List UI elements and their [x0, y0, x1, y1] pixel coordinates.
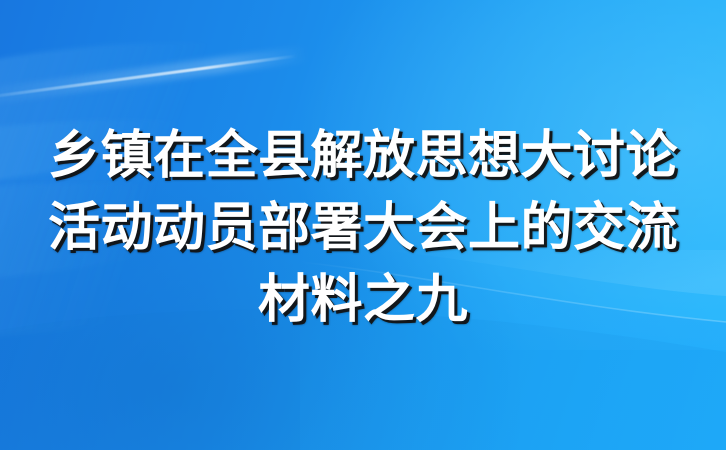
title-line-2: 活动动员部署大会上的交流: [48, 192, 678, 264]
title-line-1: 乡镇在全县解放思想大讨论: [48, 120, 678, 192]
cover-banner: 乡镇在全县解放思想大讨论 活动动员部署大会上的交流 材料之九: [0, 0, 726, 450]
banner-title: 乡镇在全县解放思想大讨论 活动动员部署大会上的交流 材料之九: [0, 0, 726, 450]
title-line-3: 材料之九: [258, 264, 468, 336]
